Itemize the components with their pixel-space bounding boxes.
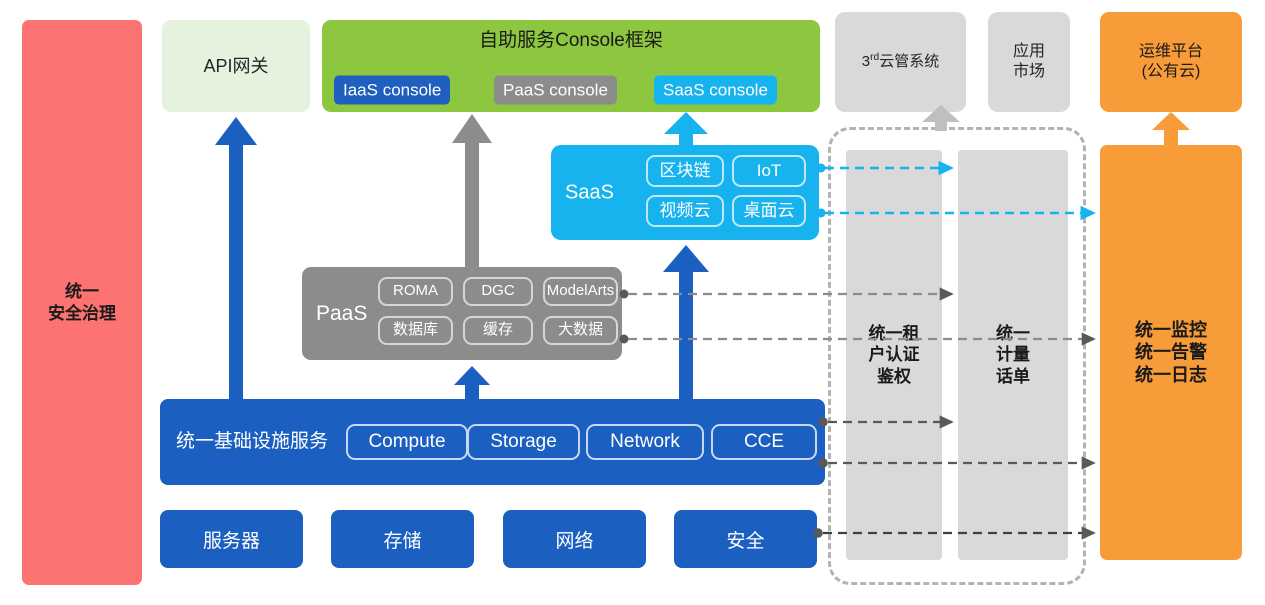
unified-metering-column[interactable]: 统一 计量 话单 [958,150,1068,560]
arrow-paas-to-console [452,114,492,267]
app-market-box[interactable]: 应用 市场 [988,12,1070,112]
hardware-box-security[interactable]: 安全 [674,510,817,568]
ops-platform-line2: (公有云) [1139,62,1203,82]
paas-chip-roma[interactable]: ROMA [378,277,453,306]
saas-layer-box[interactable]: SaaS 区块链 IoT 视频云 桌面云 [551,145,819,240]
paas-chip-database[interactable]: 数据库 [378,316,453,345]
app-market-line1: 应用 [1013,42,1045,62]
third-party-superscript: rd [870,52,879,63]
infra-chip-cce[interactable]: CCE [711,424,817,460]
arrow-ops-column-to-platform [1152,112,1190,145]
saas-chip-blockchain[interactable]: 区块链 [646,155,724,187]
security-pillar-line1: 统一 [48,281,116,302]
arrow-infra-to-api-gateway [215,117,257,399]
third-party-cloud-mgmt-box[interactable]: 3rd云管系统 [835,12,966,112]
console-framework-title: 自助服务Console框架 [322,29,820,53]
app-market-line2: 市场 [1013,62,1045,82]
metering-column-line2: 计量 [996,344,1030,365]
hardware-box-network[interactable]: 网络 [503,510,646,568]
arrow-infra-to-paas [454,366,490,399]
third-party-suffix: 云管系统 [879,53,939,70]
ops-column-line1: 统一监控 [1135,319,1207,342]
unified-infrastructure-box[interactable]: 统一基础设施服务 Compute Storage Network CCE [160,399,825,485]
ops-platform-line1: 运维平台 [1139,42,1203,62]
metering-column-line1: 统一 [996,323,1030,344]
hardware-box-storage[interactable]: 存储 [331,510,474,568]
api-gateway-label: API网关 [203,55,268,78]
infra-chip-compute[interactable]: Compute [346,424,468,460]
paas-layer-box[interactable]: PaaS ROMA DGC ModelArts 数据库 缓存 大数据 [302,267,622,360]
paas-layer-label: PaaS [316,300,367,326]
console-framework-box[interactable]: 自助服务Console框架 IaaS console PaaS console … [322,20,820,112]
saas-chip-video-cloud[interactable]: 视频云 [646,195,724,227]
infra-chip-network[interactable]: Network [586,424,704,460]
saas-chip-iot[interactable]: IoT [732,155,806,187]
saas-layer-label: SaaS [565,180,614,205]
infrastructure-label: 统一基础设施服务 [176,430,328,454]
paas-chip-bigdata[interactable]: 大数据 [543,316,618,345]
arrow-infra-to-saas [663,245,709,399]
arrow-saas-to-console [664,112,708,145]
paas-chip-cache[interactable]: 缓存 [463,316,533,345]
ops-monitoring-column[interactable]: 统一监控 统一告警 统一日志 [1100,145,1242,560]
paas-console-chip[interactable]: PaaS console [494,76,617,105]
metering-column-line3: 话单 [996,366,1030,387]
infra-chip-storage[interactable]: Storage [467,424,580,460]
architecture-diagram: 统一 安全治理 API网关 自助服务Console框架 IaaS console… [0,0,1265,605]
third-party-label: 3rd云管系统 [862,52,939,72]
paas-chip-modelarts[interactable]: ModelArts [543,277,618,306]
ops-platform-box[interactable]: 运维平台 (公有云) [1100,12,1242,112]
paas-chip-dgc[interactable]: DGC [463,277,533,306]
auth-column-line3: 鉴权 [869,366,920,387]
security-pillar-line2: 安全治理 [48,303,116,324]
security-governance-pillar[interactable]: 统一 安全治理 [22,20,142,585]
third-party-prefix: 3 [862,53,870,70]
saas-chip-desktop-cloud[interactable]: 桌面云 [732,195,806,227]
api-gateway-box[interactable]: API网关 [162,20,310,112]
auth-column-line2: 户认证 [869,344,920,365]
saas-console-chip[interactable]: SaaS console [654,76,777,105]
iaas-console-chip[interactable]: IaaS console [334,76,450,105]
unified-tenant-auth-column[interactable]: 统一租 户认证 鉴权 [846,150,942,560]
auth-column-line1: 统一租 [869,323,920,344]
ops-column-line2: 统一告警 [1135,341,1207,364]
hardware-box-server[interactable]: 服务器 [160,510,303,568]
ops-column-line3: 统一日志 [1135,364,1207,387]
